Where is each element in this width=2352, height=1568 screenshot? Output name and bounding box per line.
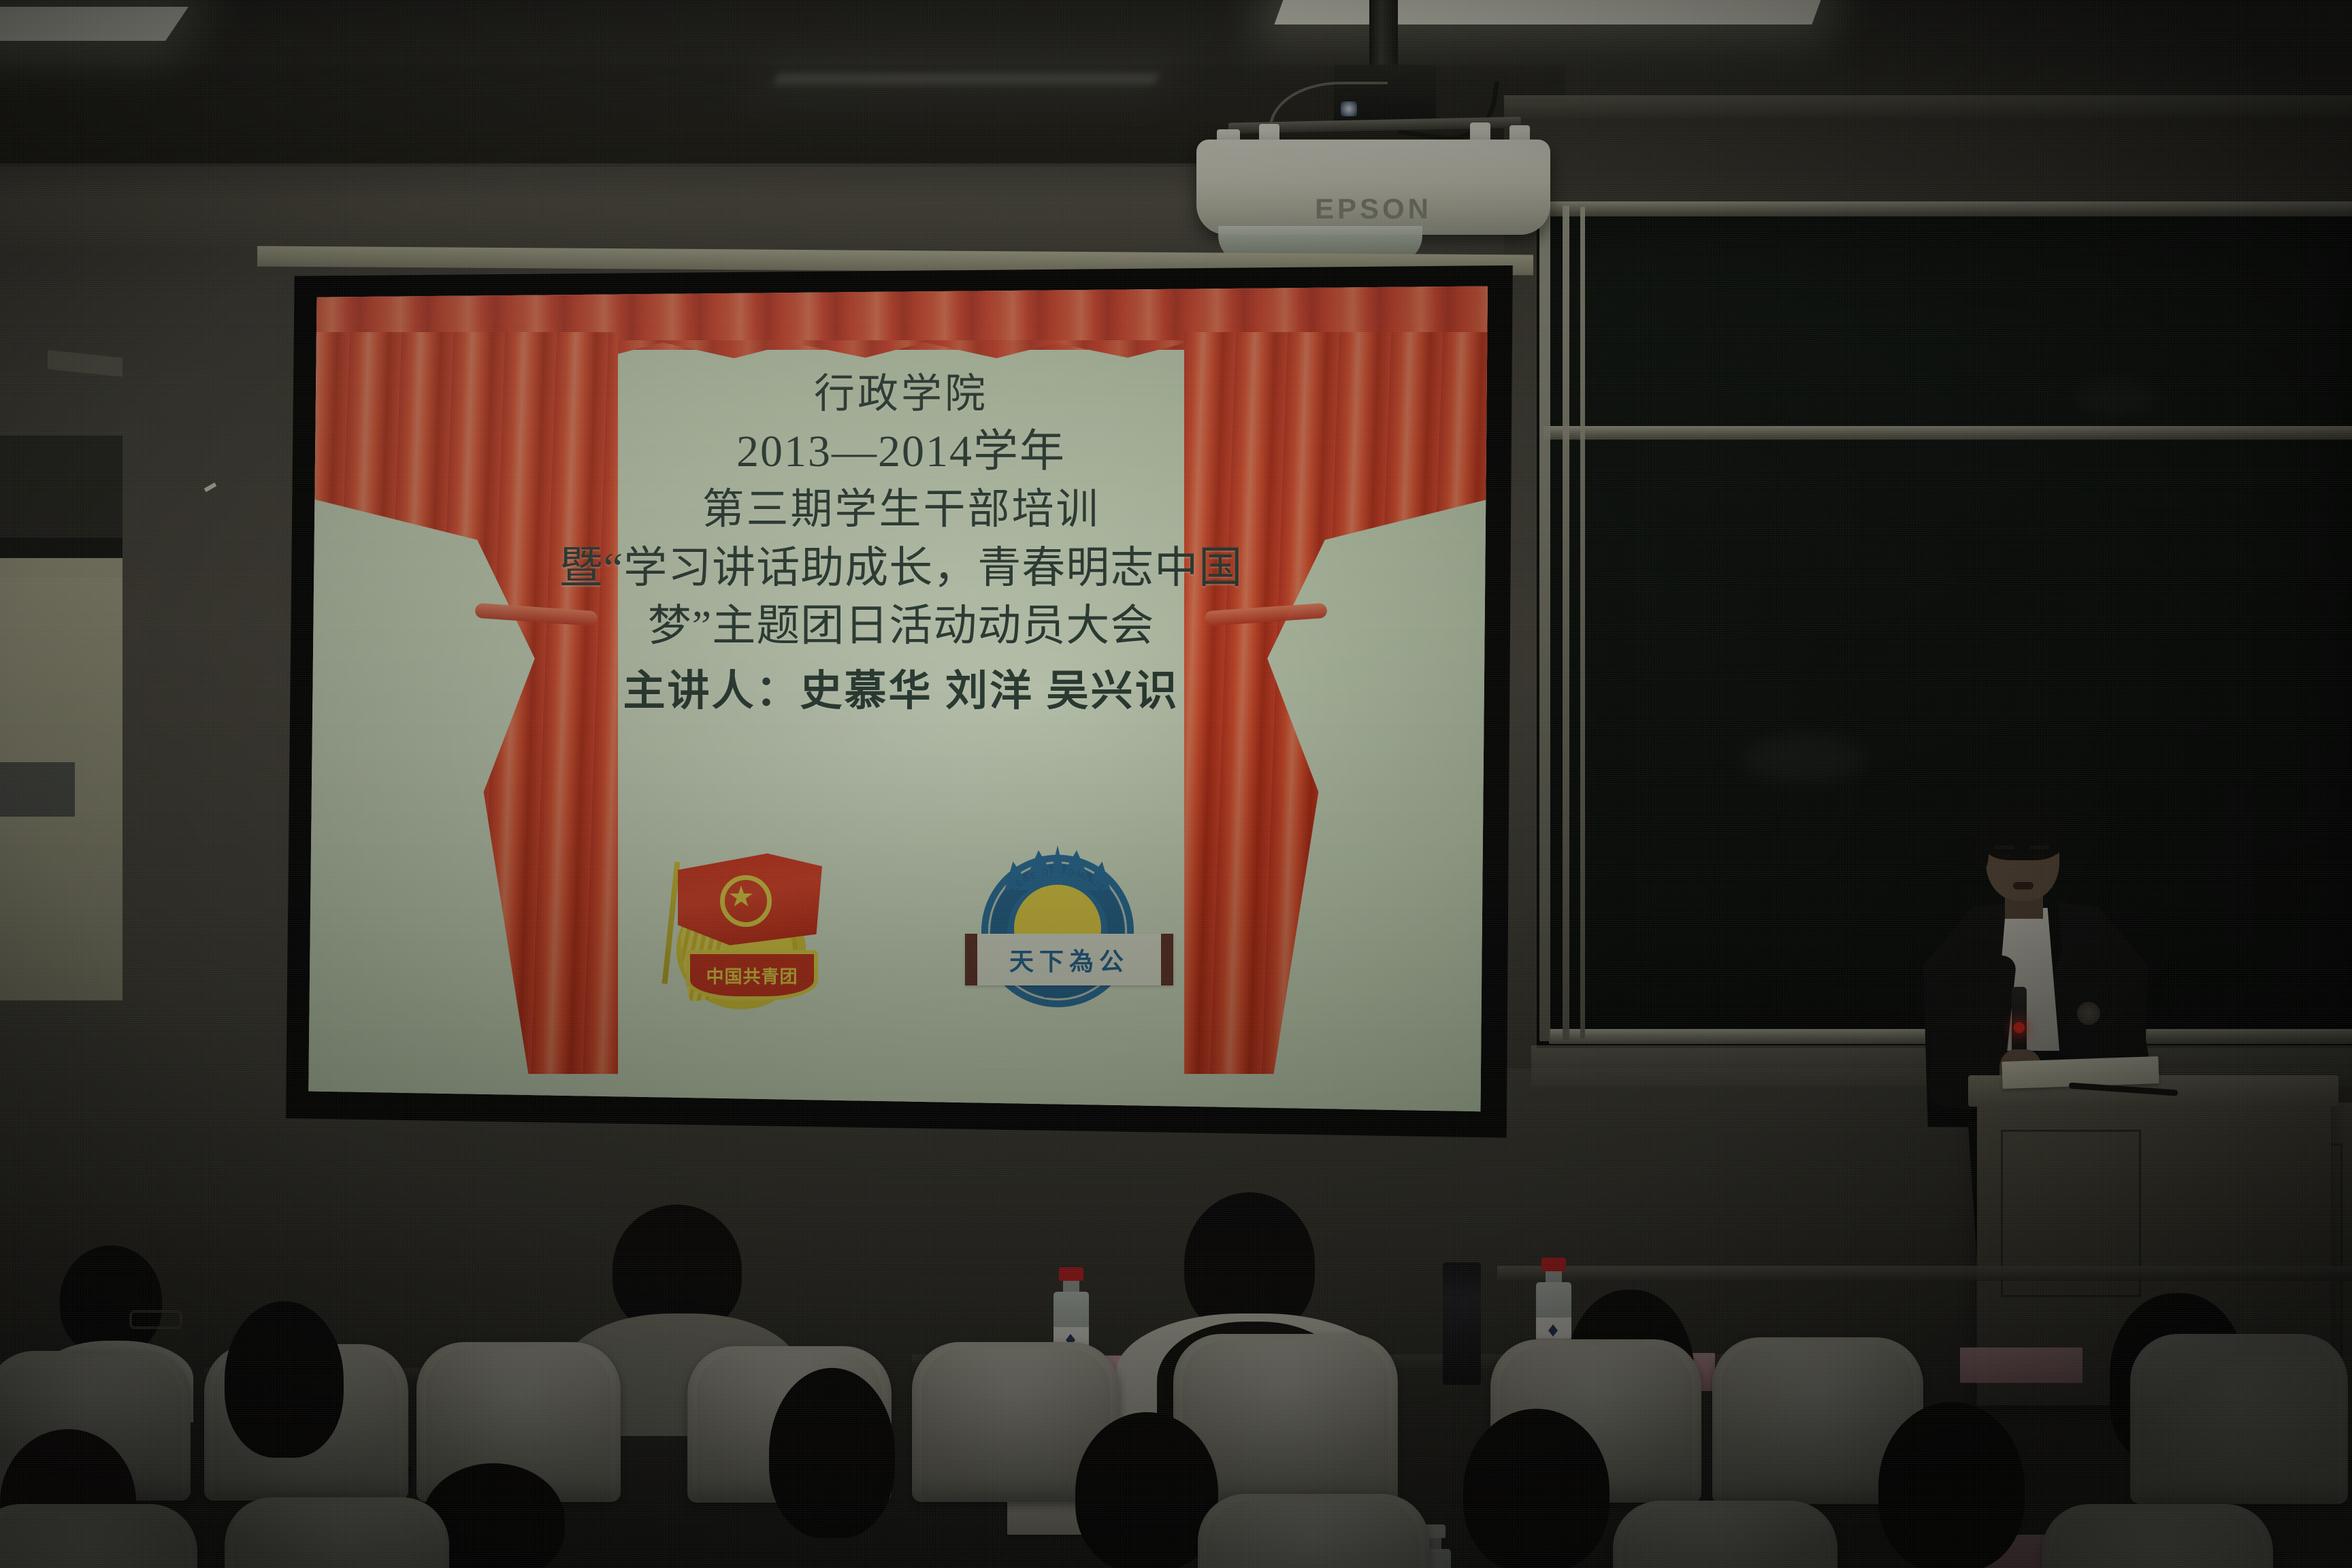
slide-text-block: 行政学院 2013—2014学年 第三期学生干部培训 暨“学习讲话助成长，青春明… (412, 372, 1390, 725)
emblem-banner: 中国共青团 (686, 950, 818, 1000)
chalk-rail-top (1537, 201, 2352, 216)
communist-youth-league-emblem: 中国共青团 (656, 849, 833, 1013)
presenter-eye (2032, 853, 2044, 858)
ceiling-light-right (1274, 0, 1822, 24)
slide-emblems: 中国共青团 THE COLLEGE OF ADMINISTRATION 1983… (305, 849, 1497, 1033)
chalk-smudge (1742, 735, 1865, 783)
presenter-eye (1998, 853, 2010, 858)
microphone-led-icon (2014, 1022, 2025, 1033)
red-flag-icon (678, 853, 822, 945)
slide-line-theme-part2: 梦”主题团日活动动员大会 (412, 602, 1390, 651)
stage-platform-edge (1497, 1266, 2352, 1281)
lecture-seat[interactable] (1613, 1501, 1837, 1568)
crest-tablet: 天下為公 (965, 934, 1173, 985)
audience-member (769, 1368, 895, 1538)
chalkboard-frame-left (1539, 204, 1550, 1041)
chalkboard-frame-left2 (1563, 206, 1569, 1040)
chalk-rail-middle (1543, 426, 2352, 440)
thermos-flask (1443, 1262, 1481, 1385)
presenter-mouth (2013, 882, 2033, 889)
ceiling-light-glow (774, 73, 1159, 84)
emblem-banner-text: 中国共青团 (706, 963, 798, 988)
chalkboard-frame-left3 (1580, 207, 1585, 1039)
flagpole-icon (662, 862, 681, 984)
lecture-seat[interactable] (225, 1497, 449, 1568)
star-in-circle-icon (720, 875, 772, 927)
projection-screen: 行政学院 2013—2014学年 第三期学生干部培训 暨“学习讲话助成长，青春明… (305, 284, 1497, 1128)
slide-line-institution: 行政学院 (412, 372, 1390, 417)
lecture-hall-photo: EPSON 行政学院 2013—2014学年 第三期学生干部培训 暨“学习讲话助… (0, 0, 2352, 1568)
bottle-cap (1541, 1258, 1566, 1271)
lecture-seat[interactable] (1198, 1494, 1429, 1568)
wall-notice-board (0, 558, 122, 1000)
slide-line-training-term: 第三期学生干部培训 (412, 487, 1390, 534)
lecture-seat[interactable] (0, 1504, 197, 1568)
presenter-brow (2029, 845, 2050, 849)
audience-member (60, 1245, 162, 1354)
chalk-smudge (2076, 381, 2157, 415)
crest-tablet-text: 天下為公 (1009, 942, 1129, 977)
audience-member (1075, 1412, 1218, 1568)
audience-member (1463, 1409, 1610, 1568)
slide-line-speakers: 主讲人：史慕华 刘洋 吴兴识 (412, 668, 1390, 715)
eyeglasses-icon (129, 1310, 182, 1329)
audience-member (225, 1301, 344, 1458)
crest-year: 1983 (969, 989, 1146, 1000)
bottle-cap (1059, 1267, 1083, 1281)
lecture-seat[interactable] (2042, 1504, 2273, 1568)
svg-text:THE COLLEGE OF ADMINISTRATION: THE COLLEGE OF ADMINISTRATION (988, 866, 1127, 936)
left-wall-shadow (0, 436, 122, 544)
slide-line-theme-part1: 暨“学习讲话助成长，青春明志中国 (412, 544, 1390, 593)
presentation-slide: 行政学院 2013—2014学年 第三期学生干部培训 暨“学习讲话助成长，青春明… (305, 284, 1497, 1128)
projector-brand-label: EPSON (1196, 193, 1550, 225)
pink-handout (1960, 1347, 2082, 1383)
slide-line-academic-year: 2013—2014学年 (412, 427, 1390, 477)
ceiling-light-left (0, 7, 189, 41)
blackboard-top-trim (1504, 95, 2352, 118)
bottle-neck (1063, 1281, 1079, 1292)
presenter-brow (1994, 845, 2014, 849)
lecture-seat[interactable] (2130, 1334, 2348, 1504)
bottle-neck (1546, 1271, 1562, 1282)
epson-projector[interactable]: EPSON (1196, 140, 1550, 235)
presenter-badge (2077, 1002, 2100, 1025)
presenter-hair (1979, 800, 2066, 860)
audience-member (1878, 1402, 2025, 1568)
college-of-administration-emblem: THE COLLEGE OF ADMINISTRATION 1983 天下為公 (969, 849, 1146, 1013)
